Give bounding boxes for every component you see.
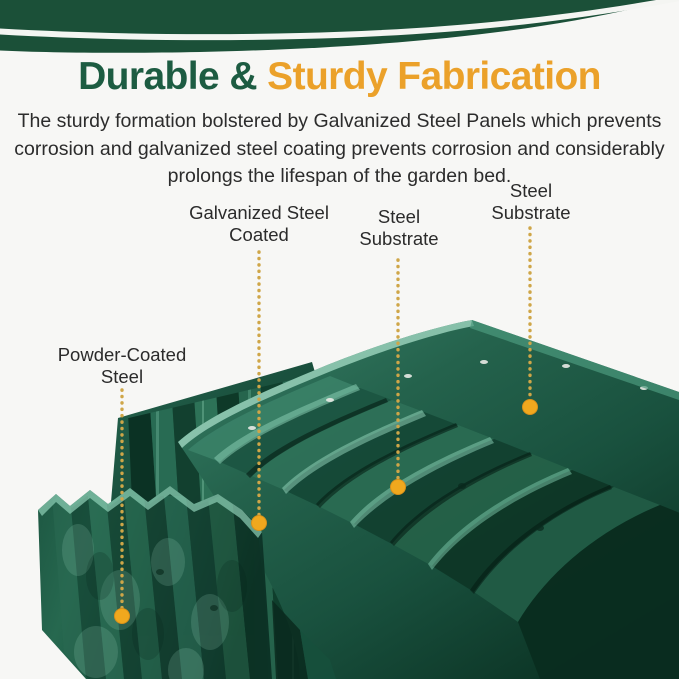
- header-banner: [0, 0, 679, 62]
- subtitle-paragraph: The sturdy formation bolstered by Galvan…: [12, 108, 667, 191]
- title-part-green: Durable &: [78, 55, 257, 98]
- page-title: Durable & Sturdy Fabrication: [0, 57, 679, 98]
- callout-label-steel-substrate-right: Steel Substrate: [466, 180, 596, 224]
- callout-label-powder-coated-steel: Powder-Coated Steel: [22, 344, 222, 388]
- infographic-canvas: Durable & Sturdy Fabrication The sturdy …: [0, 0, 679, 679]
- banner-arc: [0, 0, 679, 53]
- title-part-orange: Sturdy Fabrication: [267, 55, 601, 98]
- panel-front-powder-coated: [38, 486, 272, 679]
- callout-label-galvanized-steel-coated: Galvanized Steel Coated: [164, 202, 354, 246]
- callout-label-steel-substrate-mid: Steel Substrate: [338, 206, 460, 250]
